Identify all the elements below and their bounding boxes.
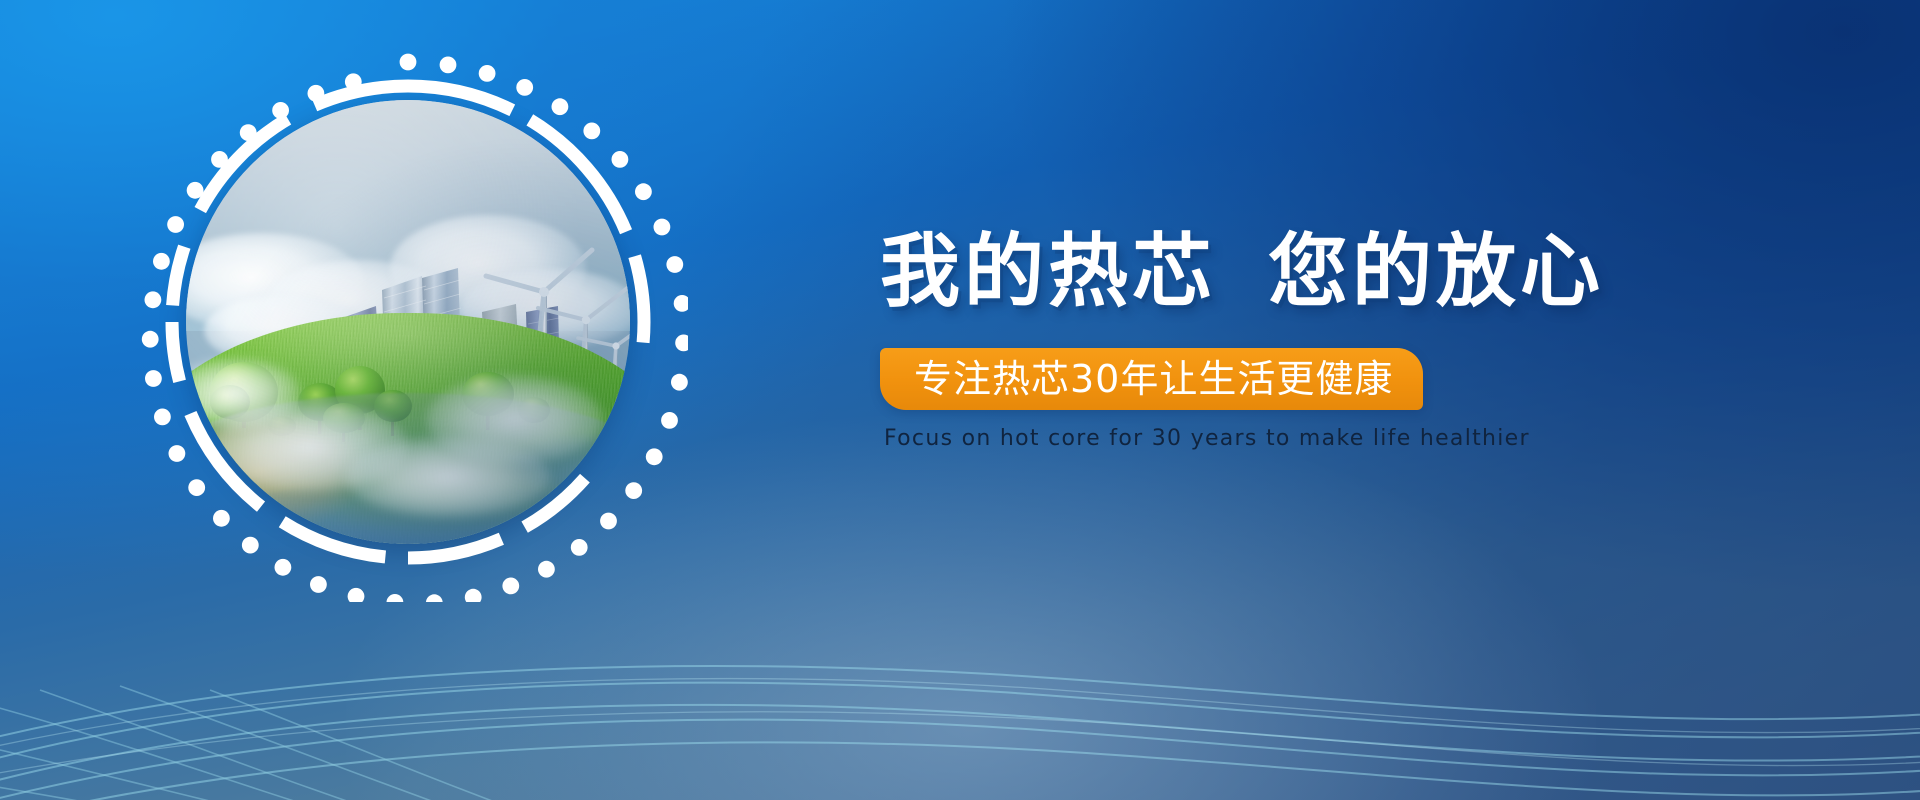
dotted-ring (142, 54, 688, 602)
badge-part-1: 专注热芯30年 (914, 360, 1159, 398)
dashed-arc-ring (172, 86, 644, 558)
decorative-rings (128, 42, 688, 602)
english-subtitle: Focus on hot core for 30 years to make l… (884, 426, 1720, 451)
badge-part-2: 让生活更健康 (1159, 360, 1393, 398)
headline: 我的热芯 您的放心 (880, 232, 1720, 312)
headline-part-2: 您的放心 (1268, 232, 1604, 312)
banner-copy: 我的热芯 您的放心 专注热芯30年 让生活更健康 Focus on hot co… (880, 232, 1720, 451)
promo-banner: 我的热芯 您的放心 专注热芯30年 让生活更健康 Focus on hot co… (0, 0, 1920, 800)
globe-emblem (128, 42, 688, 602)
tagline-badge: 专注热芯30年 让生活更健康 (880, 348, 1423, 410)
headline-part-1: 我的热芯 (880, 232, 1216, 312)
